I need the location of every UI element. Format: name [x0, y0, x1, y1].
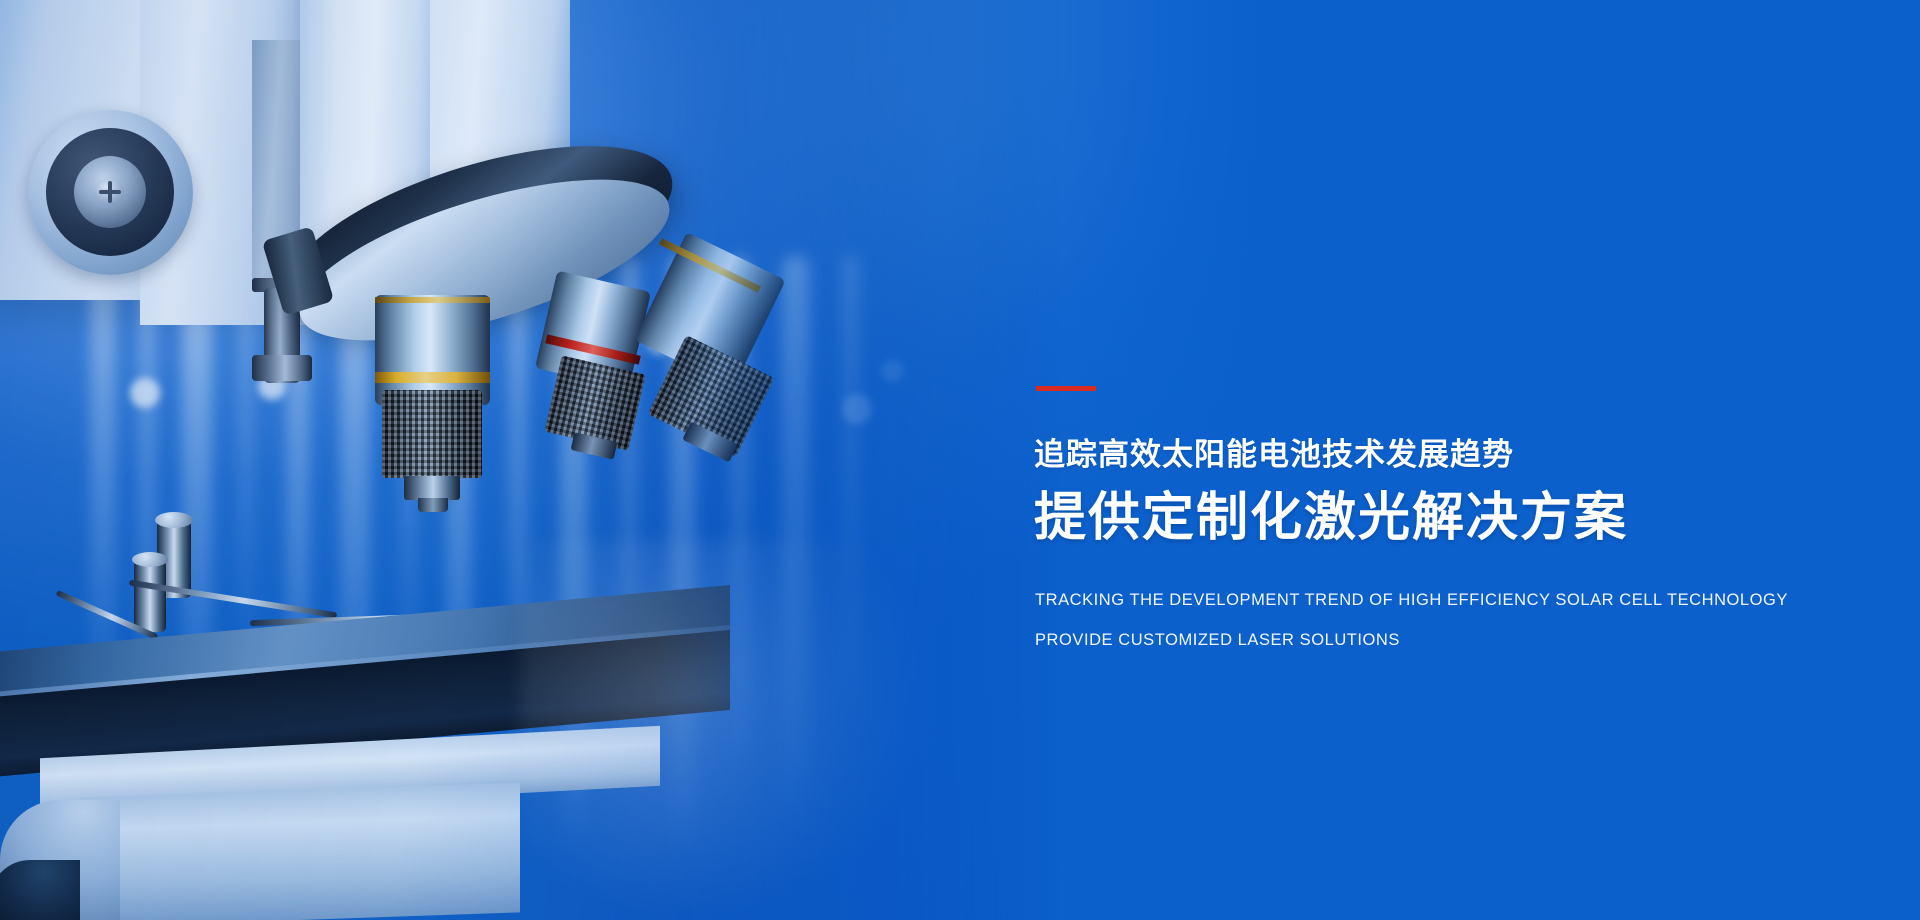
- hero-kicker: 追踪高效太阳能电池技术发展趋势: [1034, 439, 1852, 470]
- hero-headline: 提供定制化激光解决方案: [1034, 492, 1852, 544]
- hero-english-line-1: TRACKING THE DEVELOPMENT TREND OF HIGH E…: [1035, 592, 1852, 609]
- microscope-photo: [0, 0, 1060, 920]
- hero-banner: 追踪高效太阳能电池技术发展趋势 提供定制化激光解决方案 TRACKING THE…: [0, 0, 1920, 920]
- accent-rule: [1036, 386, 1096, 391]
- hero-english-line-2: PROVIDE CUSTOMIZED LASER SOLUTIONS: [1035, 632, 1852, 649]
- photo-blue-tint: [0, 0, 1060, 920]
- hero-copy: 追踪高效太阳能电池技术发展趋势 提供定制化激光解决方案 TRACKING THE…: [1032, 386, 1852, 648]
